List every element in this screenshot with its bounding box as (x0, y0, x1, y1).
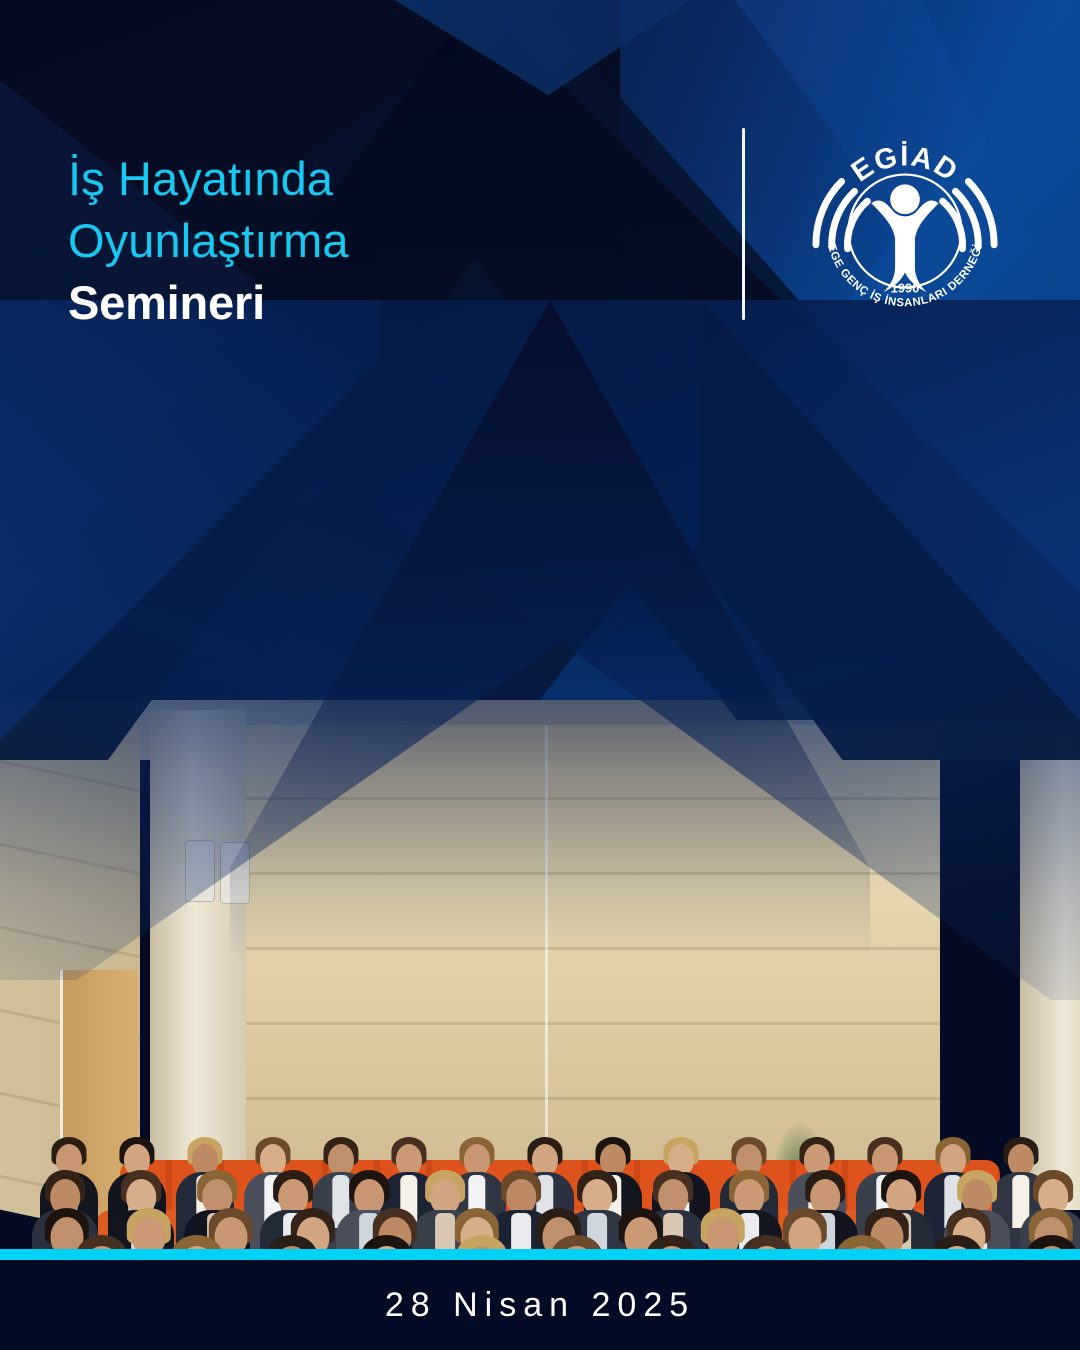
poster-footer: 28 Nisan 2025 (0, 1260, 1080, 1350)
audience-member (818, 1242, 906, 1249)
audience-member (153, 1242, 241, 1249)
audience-member (723, 1242, 811, 1249)
vertical-divider (742, 128, 745, 320)
audience-member (628, 1242, 716, 1249)
audience-member (58, 1242, 146, 1249)
title-block: İş Hayatında Oyunlaştırma Semineri (68, 148, 688, 335)
logo-year: 1990 (891, 280, 920, 295)
egiad-logo: EGİAD 1990 EGE GENÇ İŞ İNSANLARI DERNEĞİ (806, 128, 1004, 326)
title-line-3: Semineri (68, 272, 688, 335)
figure-head (890, 184, 920, 214)
audience-member (913, 1242, 1001, 1249)
event-date: 28 Nisan 2025 (385, 1286, 695, 1325)
poster-canvas: İş Hayatında Oyunlaştırma Semineri (0, 0, 1080, 1350)
cyan-accent-bar (0, 1249, 1080, 1260)
audience-member (438, 1242, 526, 1249)
title-line-1: İş Hayatında (68, 148, 688, 210)
logo-top-text: EGİAD (846, 140, 964, 189)
audience-member (533, 1242, 621, 1249)
audience-member (343, 1242, 431, 1249)
poster-header: İş Hayatında Oyunlaştırma Semineri (0, 0, 1080, 360)
figure-body (871, 200, 938, 292)
title-line-2: Oyunlaştırma (68, 210, 688, 272)
audience-member (1008, 1242, 1080, 1249)
audience-member (248, 1242, 336, 1249)
